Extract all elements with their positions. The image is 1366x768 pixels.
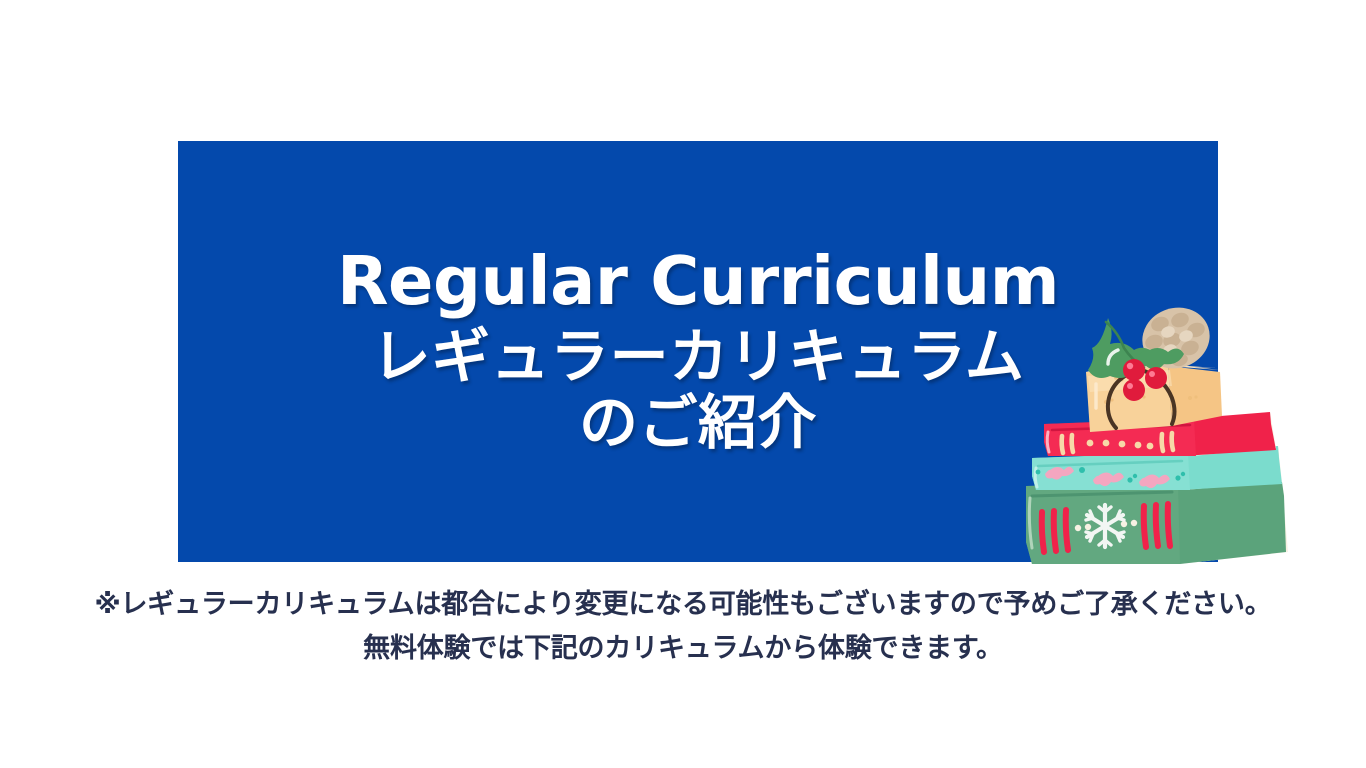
caption-line-1: ※レギュラーカリキュラムは都合により変更になる可能性もございますので予めご了承く… bbox=[0, 583, 1366, 627]
hero-panel: Regular Curriculum レギュラーカリキュラム のご紹介 bbox=[178, 141, 1218, 562]
title-english: Regular Curriculum bbox=[337, 248, 1059, 315]
caption-block: ※レギュラーカリキュラムは都合により変更になる可能性もございますので予めご了承く… bbox=[0, 583, 1366, 670]
caption-line-2: 無料体験では下記のカリキュラムから体験できます。 bbox=[0, 627, 1366, 671]
hero-title-block: Regular Curriculum レギュラーカリキュラム のご紹介 bbox=[178, 141, 1218, 562]
slide-root: Regular Curriculum レギュラーカリキュラム のご紹介 bbox=[0, 0, 1366, 768]
title-japanese-line1: レギュラーカリキュラム bbox=[372, 325, 1025, 389]
title-japanese-line2: のご紹介 bbox=[579, 391, 817, 455]
